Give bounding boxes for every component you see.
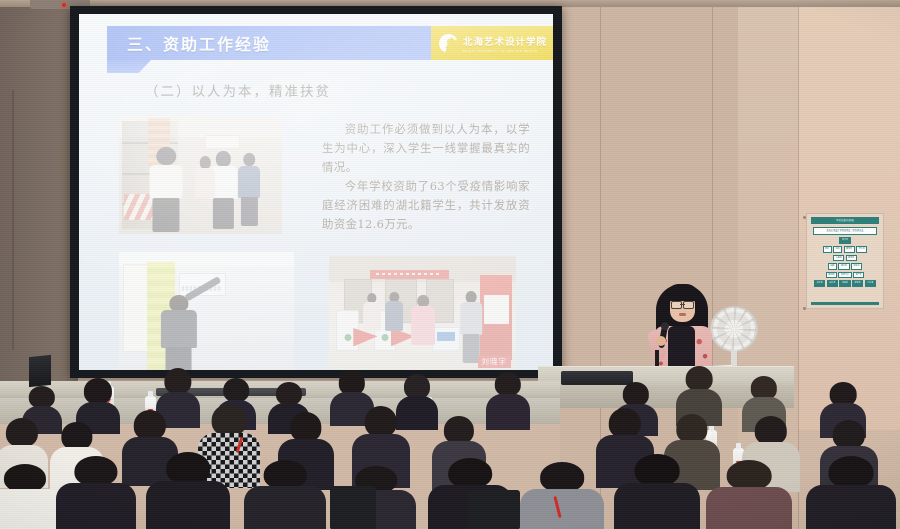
slide-title: 三、资助工作经验 (127, 31, 271, 55)
audience-person (706, 460, 792, 529)
poster-node: 教务处 (844, 246, 855, 253)
chair-back (468, 490, 520, 529)
poster-node: 美术系 (814, 280, 825, 287)
slide-title-notch (107, 60, 151, 73)
poster-title: 学院组织机构图 (811, 217, 879, 224)
school-name-en: BEIHAI UNIVERSITY OF ART AND DESIGN (463, 49, 547, 53)
poster-root-node: 北海艺术设计学院党委会・院务委员会 (813, 227, 877, 235)
poster-node: 党办 (823, 246, 832, 253)
slide-body-text: 资助工作必须做到以人为本，以学生为中心，深入学生一线掌握最真实的情况。 今年学校… (322, 120, 530, 234)
audience-person (0, 464, 64, 529)
audience-area (0, 360, 900, 529)
audience-person (614, 454, 700, 529)
poster-node: 动画系 (839, 280, 850, 287)
slide-photo-campus-gate: 刘晓宇 (329, 256, 516, 370)
audience-person (146, 452, 230, 529)
school-name-cn: 北海艺术设计学院 (463, 34, 547, 48)
poster-node: 设计系 (827, 280, 838, 287)
poster-node: 保卫处 (838, 263, 849, 270)
poster-node: 建筑系 (852, 280, 863, 287)
projector-status-led-icon (62, 3, 66, 7)
school-logo-banner: 北海艺术设计学院 BEIHAI UNIVERSITY OF ART AND DE… (431, 26, 553, 60)
audience-person (806, 456, 896, 529)
projector-screen: 三、资助工作经验 北海艺术设计学院 BEIHAI UNIVERSITY OF A… (79, 14, 553, 370)
poster-footer-bar (811, 302, 879, 305)
poster-node: 资产处 (853, 272, 864, 279)
audience-person (486, 372, 530, 430)
poster-node: 后勤 (828, 263, 837, 270)
chair-back (330, 486, 376, 529)
glasses-icon (671, 301, 694, 307)
poster-node: 院办 (833, 246, 842, 253)
slide-photo-ac-install (119, 252, 294, 370)
slide-paragraph: 资助工作必须做到以人为本，以学生为中心，深入学生一线掌握最真实的情况。 (322, 120, 530, 177)
poster-node: 图书馆 (826, 272, 837, 279)
poster-node: 院长室 (839, 237, 850, 244)
poster-node: 信息中心 (838, 272, 851, 279)
poster-node: 学工处 (856, 246, 867, 253)
poster-node: 招生办 (851, 263, 862, 270)
poster-node: 公共课 (865, 280, 876, 287)
audience-person (56, 456, 136, 529)
slide-subtitle: （二）以人为本，精准扶贫 (145, 80, 331, 100)
slide-photo-dorm-visit (119, 116, 282, 234)
slide-paragraph: 今年学校资助了63个受疫情影响家庭经济困难的湖北籍学生，共计发放资助资金12.6… (322, 177, 530, 234)
presentation-slide: 三、资助工作经验 北海艺术设计学院 BEIHAI UNIVERSITY OF A… (79, 14, 553, 370)
swirl-logo-icon (439, 34, 458, 53)
organization-chart-poster: 学院组织机构图 北海艺术设计学院党委会・院务委员会 院长室 党办 院办 教务处 … (806, 213, 884, 309)
poster-node: 财务处 (846, 255, 857, 262)
wall-left-shadow (0, 0, 78, 392)
lecture-hall-photo: 学院组织机构图 北海艺术设计学院党委会・院务委员会 院长室 党办 院办 教务处 … (0, 0, 900, 529)
audience-person (244, 460, 326, 529)
poster-node: 人事处 (833, 255, 844, 262)
audience-person (520, 462, 604, 529)
